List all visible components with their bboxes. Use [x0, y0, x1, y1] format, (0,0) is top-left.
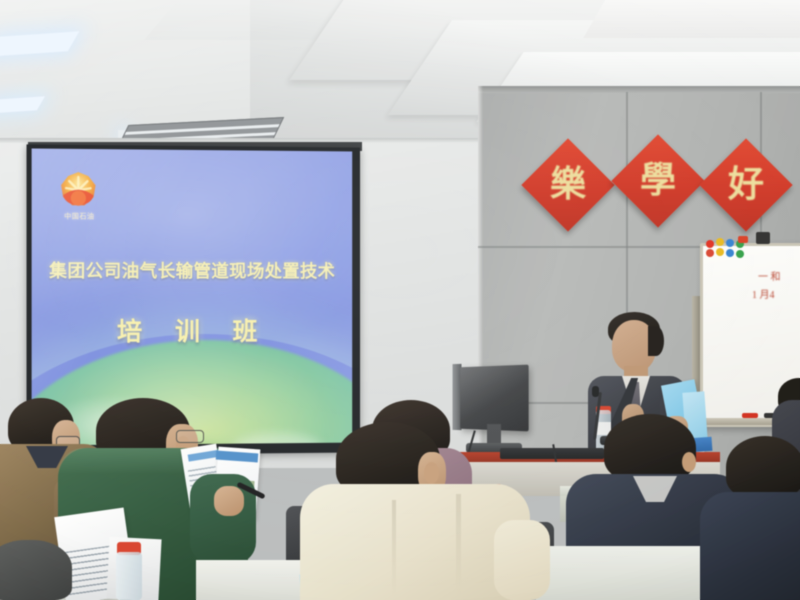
- wall-trim: [478, 86, 800, 93]
- wall-plaque-character: 好: [713, 152, 779, 218]
- projected-slide: 中国石油 集团公司油气长输管道现场处置技术 培 训 班: [32, 148, 353, 445]
- presenter-hair: [648, 326, 664, 356]
- attendee-hand: [214, 486, 244, 516]
- whiteboard-clip: [756, 232, 770, 244]
- wall-plaque-character: 樂: [535, 152, 601, 218]
- whiteboard-note-line: 1 月4: [752, 286, 800, 295]
- attendee-dark-suit-right: [700, 492, 800, 600]
- attendee-arm: [494, 520, 550, 600]
- wall-plaque-hao: 好: [699, 138, 792, 231]
- whiteboard-note-line: 一 和: [758, 268, 800, 277]
- jacket-fold: [456, 494, 461, 594]
- wall-plaque-character: 學: [625, 148, 691, 214]
- jacket-fold: [392, 500, 396, 596]
- magnet-icon: [726, 249, 734, 257]
- magnet-icon: [716, 238, 724, 246]
- lcd-monitor[interactable]: [460, 365, 528, 432]
- attendee-head-foreground: [0, 540, 72, 600]
- marker-icon: [742, 413, 758, 418]
- magnet-icon: [706, 240, 714, 248]
- eyeglasses-icon: [176, 430, 204, 443]
- whiteboard-clip: [738, 236, 748, 243]
- attendee-hair: [604, 414, 696, 482]
- attendee-hair: [726, 436, 800, 498]
- magnet-icon: [706, 249, 714, 257]
- keyboard[interactable]: [500, 448, 604, 459]
- magnet-icon: [716, 248, 724, 256]
- photograph-training-room: 中国石油 集团公司油气长输管道现场处置技术 培 训 班 樂 學 好 一 和 1 …: [0, 0, 800, 600]
- screen-glare: [32, 148, 353, 445]
- projection-screen: 中国石油 集团公司油气长输管道现场处置技术 培 训 班: [27, 144, 361, 455]
- attendee-ear: [682, 452, 696, 472]
- magnet-icon: [726, 239, 734, 247]
- magnet-icon: [736, 250, 744, 258]
- attendee-ear: [424, 462, 439, 484]
- water-bottle: [116, 552, 142, 600]
- wall-plaque-le: 樂: [521, 138, 614, 231]
- wall-plaque-xue: 學: [611, 134, 704, 227]
